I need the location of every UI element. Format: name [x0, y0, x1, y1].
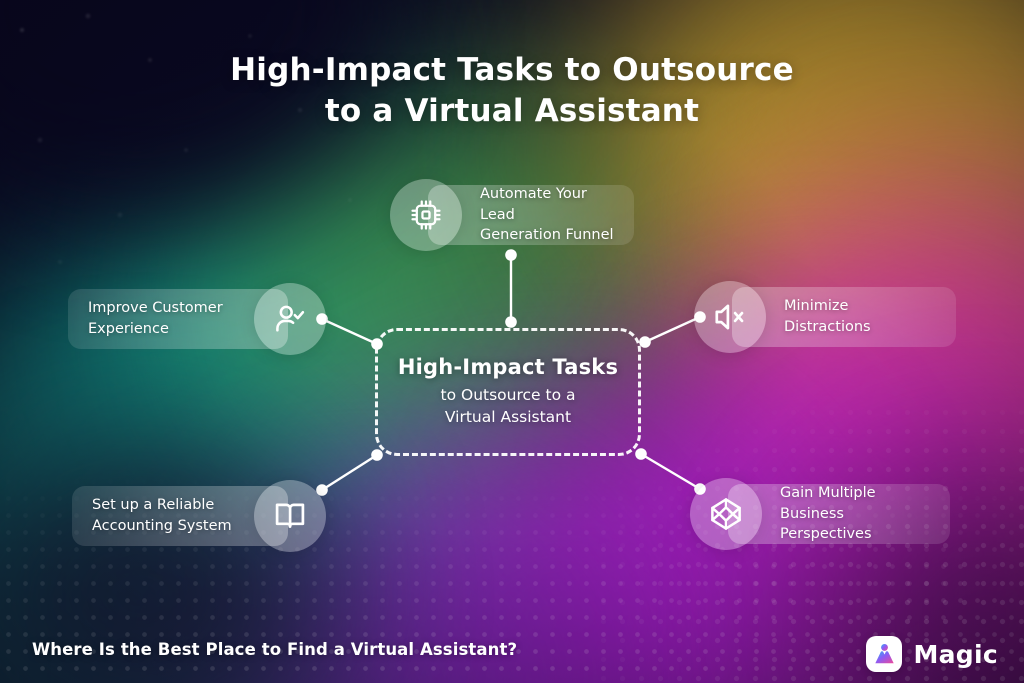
brand-logo[interactable]: Magic: [866, 636, 998, 672]
connector-dot-top-outer: [506, 250, 515, 259]
node-minimize-distractions[interactable]: Minimize Distractions: [694, 281, 956, 353]
connector-right: [645, 317, 700, 342]
central-node-subtitle-line-2: Virtual Assistant: [441, 406, 576, 428]
connector-dot-right-inner: [640, 337, 649, 346]
footer-question: Where Is the Best Place to Find a Virtua…: [32, 640, 517, 659]
node-reliable-accounting-system[interactable]: Set up a Reliable Accounting System: [72, 480, 326, 552]
connector-bottom-left: [322, 455, 377, 490]
open-book-icon: [254, 480, 326, 552]
central-node: High-Impact Tasks to Outsource to a Virt…: [375, 328, 641, 456]
cube-icon: [690, 478, 762, 550]
central-node-subtitle-line-1: to Outsource to a: [441, 384, 576, 406]
connector-left: [322, 319, 377, 344]
infographic-canvas: High-Impact Tasks to Outsource to a Virt…: [0, 0, 1024, 683]
connector-dot-top-inner: [506, 317, 515, 326]
cpu-chip-icon: [390, 179, 462, 251]
magic-logo-icon: [866, 636, 902, 672]
node-gain-business-perspectives[interactable]: Gain Multiple Business Perspectives: [690, 478, 950, 550]
user-check-icon: [254, 283, 326, 355]
node-improve-customer-experience[interactable]: Improve Customer Experience: [68, 283, 326, 355]
brand-name: Magic: [913, 640, 998, 669]
connector-dot-bottom-right-inner: [636, 449, 645, 458]
connector-dot-bottom-left-inner: [372, 450, 381, 459]
central-node-title: High-Impact Tasks: [398, 355, 618, 381]
central-node-subtitle: to Outsource to a Virtual Assistant: [441, 384, 576, 429]
node-automate-lead-generation[interactable]: Automate Your Lead Generation Funnel: [390, 179, 634, 251]
speaker-mute-icon: [694, 281, 766, 353]
